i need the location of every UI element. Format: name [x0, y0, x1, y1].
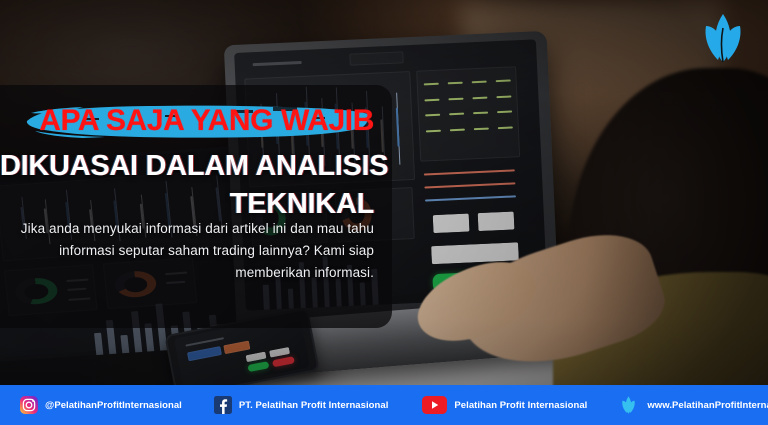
footer-instagram-label: @PelatihanProfitInternasional [45, 400, 182, 411]
footer-instagram[interactable]: @PelatihanProfitInternasional [20, 396, 182, 414]
headline-line-1: APA SAJA YANG WAJIB [0, 95, 392, 147]
footer-website-label: www.PelatihanProfitInternasional.com [647, 400, 768, 411]
footer-facebook-label: PT. Pelatihan Profit Internasional [239, 400, 389, 411]
instagram-icon [20, 396, 38, 414]
lotus-logo-icon [694, 10, 752, 66]
promo-banner: APA SAJA YANG WAJIB DIKUASAI DALAM ANALI… [0, 0, 768, 425]
social-footer-bar: @PelatihanProfitInternasional PT. Pelati… [0, 385, 768, 425]
footer-facebook[interactable]: PT. Pelatihan Profit Internasional [214, 396, 389, 414]
headline-line-2: DIKUASAI DALAM ANALISIS [0, 147, 392, 185]
youtube-icon [422, 396, 447, 414]
headline-block: APA SAJA YANG WAJIB DIKUASAI DALAM ANALI… [0, 95, 392, 223]
footer-website[interactable]: www.PelatihanProfitInternasional.com [617, 395, 768, 415]
footer-youtube[interactable]: Pelatihan Profit Internasional [422, 396, 587, 414]
body-paragraph: Jika anda menyukai informasi dari artike… [0, 218, 392, 284]
lotus-logo-icon [617, 395, 640, 415]
footer-youtube-label: Pelatihan Profit Internasional [454, 400, 587, 411]
facebook-icon [214, 396, 232, 414]
